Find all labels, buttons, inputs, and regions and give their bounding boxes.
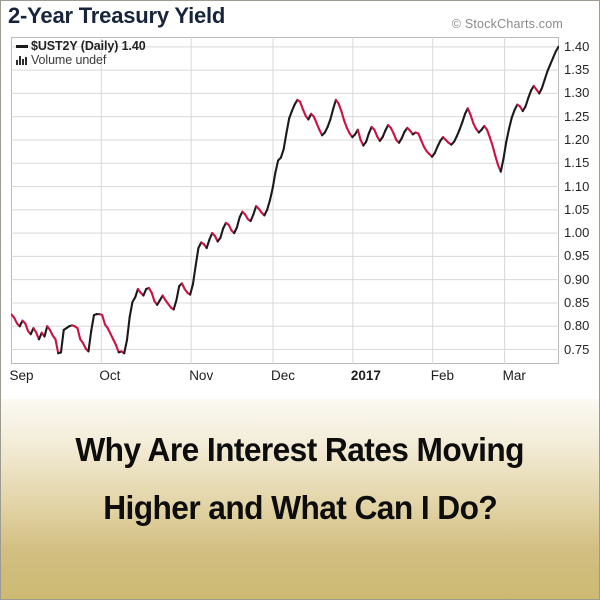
y-tick-label: 1.00 [564,225,589,240]
y-tick-label: 1.15 [564,155,589,170]
y-tick-label: 1.05 [564,202,589,217]
stockcharts-watermark: © StockCharts.com [452,17,563,31]
chart-legend: $UST2Y (Daily) 1.40 Volume undef [15,39,146,67]
line-swatch-icon [15,40,28,52]
x-tick-label: Mar [503,368,526,383]
legend-item-volume: Volume undef [15,53,146,67]
caption-line-1: Why Are Interest Rates Moving [76,421,525,479]
y-tick-label: 0.80 [564,318,589,333]
y-tick-label: 1.40 [564,39,589,54]
x-tick-label: Feb [431,368,454,383]
y-tick-label: 1.30 [564,85,589,100]
x-tick-label: Oct [99,368,120,383]
legend-price-label: $UST2Y (Daily) 1.40 [31,40,146,53]
x-tick-label: 2017 [351,368,381,383]
legend-item-price: $UST2Y (Daily) 1.40 [15,39,146,53]
yield-line-chart [11,37,559,364]
y-tick-label: 0.75 [564,342,589,357]
plot-area: $UST2Y (Daily) 1.40 Volume undef [11,37,559,364]
y-tick-label: 0.95 [564,248,589,263]
y-tick-label: 1.20 [564,132,589,147]
x-tick-label: Sep [10,368,34,383]
x-tick-label: Nov [189,368,213,383]
y-tick-label: 0.90 [564,272,589,287]
x-tick-label: Dec [271,368,295,383]
caption-band: Why Are Interest Rates Moving Higher and… [1,399,599,599]
page-title: 2-Year Treasury Yield [8,3,225,29]
infographic-card: 2-Year Treasury Yield © StockCharts.com … [0,0,600,600]
y-tick-label: 1.35 [564,62,589,77]
y-tick-label: 0.85 [564,295,589,310]
volume-bars-icon [15,54,28,66]
chart-panel: 2-Year Treasury Yield © StockCharts.com … [1,1,599,399]
caption-line-2: Higher and What Can I Do? [103,479,497,537]
legend-volume-label: Volume undef [31,54,106,67]
y-tick-label: 1.10 [564,179,589,194]
y-tick-label: 1.25 [564,109,589,124]
